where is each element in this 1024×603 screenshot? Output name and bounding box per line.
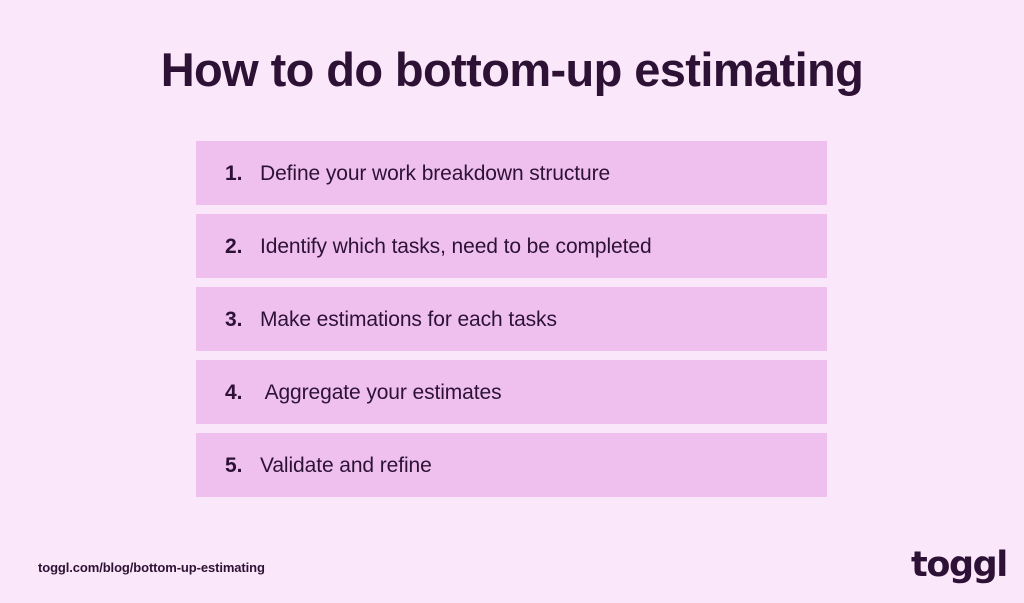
step-number: 2. xyxy=(225,236,250,257)
step-label: Make estimations for each tasks xyxy=(260,309,557,330)
step-number: 5. xyxy=(225,455,250,476)
step-number: 4. xyxy=(225,382,250,403)
step-row: 5. Validate and refine xyxy=(196,433,827,497)
steps-list: 1. Define your work breakdown structure … xyxy=(196,141,827,497)
step-label: Define your work breakdown structure xyxy=(260,163,610,184)
step-label: Aggregate your estimates xyxy=(260,382,501,403)
toggl-logo: toggl xyxy=(911,546,993,584)
step-row: 1. Define your work breakdown structure xyxy=(196,141,827,205)
step-row: 2. Identify which tasks, need to be comp… xyxy=(196,214,827,278)
step-number: 1. xyxy=(225,163,250,184)
page-title: How to do bottom-up estimating xyxy=(0,42,1024,97)
step-number: 3. xyxy=(225,309,250,330)
step-label: Validate and refine xyxy=(260,455,432,476)
source-url: toggl.com/blog/bottom-up-estimating xyxy=(38,560,265,575)
step-row: 3. Make estimations for each tasks xyxy=(196,287,827,351)
step-label: Identify which tasks, need to be complet… xyxy=(260,236,652,257)
step-row: 4. Aggregate your estimates xyxy=(196,360,827,424)
infographic-canvas: How to do bottom-up estimating 1. Define… xyxy=(0,0,1024,603)
toggl-logo-text: toggl xyxy=(911,545,1007,585)
